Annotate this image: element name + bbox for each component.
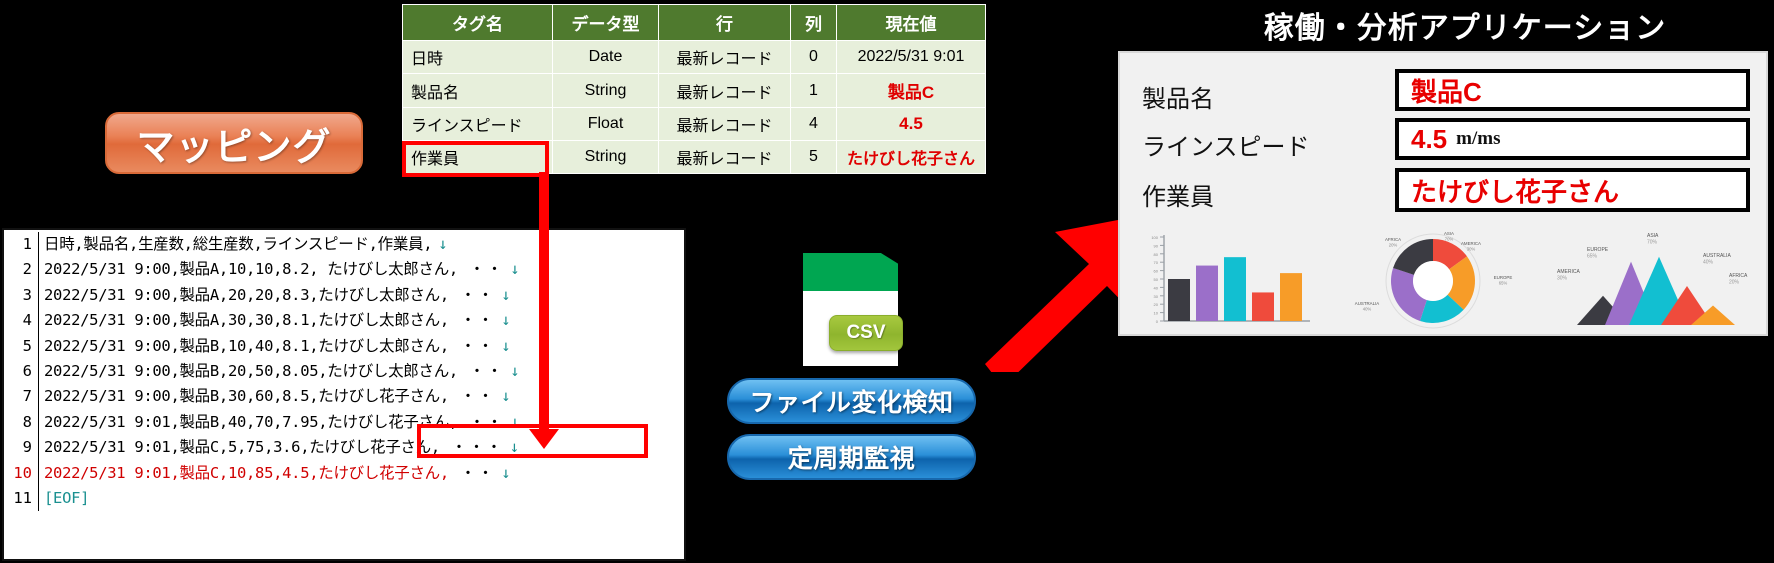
bar-chart-ticks: 0102030405060708090100 — [1151, 235, 1164, 324]
csv-line-number: 7 — [4, 384, 38, 409]
bar — [1280, 273, 1302, 321]
cell-tag: ラインスピード — [403, 108, 553, 141]
csv-line-text: 2022/5/31 9:01,製品C,10,85,4.5,たけびし花子さん, ・… — [44, 461, 510, 486]
csv-file-tag-label: CSV — [846, 322, 885, 344]
csv-line-number: 10 — [4, 461, 38, 486]
y-tick-label: 30 — [1154, 294, 1159, 299]
cell-type: String — [553, 141, 659, 174]
csv-line-number: 2 — [4, 257, 38, 282]
newline-arrow-icon: ↓ — [510, 413, 519, 431]
newline-arrow-icon: ↓ — [501, 286, 510, 304]
csv-line-text: 2022/5/31 9:00,製品B,10,40,8.1,たけびし太郎さん, ・… — [44, 334, 510, 359]
y-tick-label: 70 — [1154, 260, 1159, 265]
mountain-label: EUROPE — [1587, 247, 1609, 253]
cell-row: 最新レコード — [659, 74, 791, 108]
y-tick-label: 100 — [1151, 235, 1158, 240]
y-tick-label: 0 — [1156, 319, 1159, 324]
table-row: 日時 Date 最新レコード 0 2022/5/31 9:01 — [403, 41, 986, 74]
app-label-line-speed: ラインスピード — [1142, 127, 1310, 162]
csv-gutter-divider — [38, 410, 39, 435]
app-label-product: 製品名 — [1142, 79, 1214, 114]
donut-annotation: ASIA — [1444, 231, 1454, 236]
cell-tag: 製品名 — [403, 74, 553, 108]
csv-line-number: 3 — [4, 283, 38, 308]
cell-col: 4 — [791, 108, 837, 141]
csv-line-text: [EOF] — [44, 486, 95, 511]
cell-row: 最新レコード — [659, 108, 791, 141]
charts-area: 0102030405060708090100 AMERICA30%EUROPE6… — [1128, 225, 1764, 331]
table-row: 製品名 String 最新レコード 1 製品C — [403, 74, 986, 108]
table-row: ラインスピード Float 最新レコード 4 4.5 — [403, 108, 986, 141]
donut-annotation-value: 40% — [1363, 307, 1372, 312]
donut-chart: AMERICA30%EUROPE65%ASIA70%AUSTRALIA40%AF… — [1353, 227, 1513, 329]
csv-line: 1日時,製品名,生産数,総生産数,ラインスピード,作業員,↓ — [4, 232, 684, 257]
csv-line-text: 2022/5/31 9:00,製品B,20,50,8.05,たけびし太郎さん, … — [44, 359, 519, 384]
newline-arrow-icon: ↓ — [510, 438, 519, 456]
csv-line-text: 2022/5/31 9:01,製品C,5,75,3.6,たけびし花子さん, ・・… — [44, 435, 519, 460]
newline-arrow-icon: ↓ — [501, 387, 510, 405]
mapping-up-arrow-icon — [539, 172, 549, 431]
csv-line: 102022/5/31 9:01,製品C,10,85,4.5,たけびし花子さん,… — [4, 461, 684, 486]
csv-line-number: 5 — [4, 334, 38, 359]
mountain-label-value: 70% — [1647, 240, 1658, 246]
csv-line-list: 1日時,製品名,生産数,総生産数,ラインスピード,作業員,↓22022/5/31… — [4, 230, 684, 511]
donut-annotation-value: 20% — [1389, 243, 1398, 248]
mapping-table: タグ名 データ型 行 列 現在値 日時 Date 最新レコード 0 2022/5… — [402, 4, 985, 174]
th-current-value: 現在値 — [837, 5, 986, 41]
csv-ellipsis: ・・ — [458, 260, 504, 278]
table-header-row: タグ名 データ型 行 列 現在値 — [403, 5, 986, 41]
cell-type: Float — [553, 108, 659, 141]
csv-line: 92022/5/31 9:01,製品C,5,75,3.6,たけびし花子さん, ・… — [4, 435, 684, 460]
cell-row: 最新レコード — [659, 41, 791, 74]
analysis-application-window: 製品名 製品C ラインスピード 4.5 m/ms 作業員 たけびし花子さん 01 — [1118, 51, 1768, 336]
csv-gutter-divider — [38, 257, 39, 282]
csv-gutter-divider — [38, 461, 39, 486]
mountain-label: AUSTRALIA — [1703, 253, 1731, 259]
csv-ellipsis: ・・・ — [440, 438, 504, 456]
csv-line: 62022/5/31 9:00,製品B,20,50,8.05,たけびし太郎さん,… — [4, 359, 684, 384]
csv-gutter-divider — [38, 486, 39, 511]
csv-gutter-divider — [38, 384, 39, 409]
csv-ellipsis: ・・ — [449, 464, 495, 482]
table-row: 作業員 String 最新レコード 5 たけびし花子さん — [403, 141, 986, 174]
app-row-line-speed: ラインスピード — [1142, 127, 1310, 162]
csv-gutter-divider — [38, 334, 39, 359]
newline-arrow-icon: ↓ — [501, 464, 510, 482]
csv-line: 22022/5/31 9:00,製品A,10,10,8.2, たけびし太郎さん,… — [4, 257, 684, 282]
csv-file-icon: CSV — [803, 253, 898, 366]
bar — [1224, 257, 1246, 321]
csv-gutter-divider — [38, 232, 39, 257]
bar-chart-bars — [1168, 257, 1302, 321]
bar — [1196, 266, 1218, 321]
th-col: 列 — [791, 5, 837, 41]
csv-line-text: 2022/5/31 9:00,製品A,10,10,8.2, たけびし太郎さん, … — [44, 257, 519, 282]
csv-line-text: 2022/5/31 9:01,製品B,40,70,7.95,たけびし花子さん, … — [44, 410, 519, 435]
csv-gutter-divider — [38, 435, 39, 460]
app-value-product: 製品C — [1411, 72, 1482, 109]
csv-line: 42022/5/31 9:00,製品A,30,30,8.1,たけびし太郎さん, … — [4, 308, 684, 333]
bar — [1252, 292, 1274, 321]
donut-annotation-value: 30% — [1467, 247, 1476, 252]
cell-row: 最新レコード — [659, 141, 791, 174]
y-tick-label: 20 — [1154, 302, 1159, 307]
csv-line: 82022/5/31 9:01,製品B,40,70,7.95,たけびし花子さん,… — [4, 410, 684, 435]
cell-value: 2022/5/31 9:01 — [837, 41, 986, 74]
donut-annotation-value: 65% — [1499, 281, 1508, 286]
cell-tag: 日時 — [403, 41, 553, 74]
app-title: 稼働・分析アプリケーション — [1160, 3, 1770, 43]
diagram-canvas: マッピング タグ名 データ型 行 列 現在値 日時 Date 最新レ — [0, 0, 1774, 563]
periodic-monitoring-button[interactable]: 定周期監視 — [727, 434, 976, 480]
cell-value: 製品C — [837, 74, 986, 108]
app-field-product[interactable]: 製品C — [1395, 69, 1750, 111]
csv-line: 11[EOF] — [4, 486, 684, 511]
mountain-label: ASIA — [1647, 233, 1659, 239]
th-row: 行 — [659, 5, 791, 41]
donut-annotation: AUSTRALIA — [1355, 301, 1379, 306]
donut-annotation-value: 70% — [1445, 237, 1454, 242]
cell-value: 4.5 — [837, 108, 986, 141]
csv-gutter-divider — [38, 359, 39, 384]
periodic-monitoring-label: 定周期監視 — [788, 439, 916, 475]
y-tick-label: 50 — [1154, 277, 1159, 282]
mountain-label-value: 65% — [1587, 254, 1598, 260]
csv-line-number: 1 — [4, 232, 38, 257]
csv-gutter-divider — [38, 308, 39, 333]
mapping-badge: マッピング — [105, 112, 363, 174]
donut-annotation: AMERICA — [1461, 241, 1481, 246]
app-row-product: 製品名 — [1142, 79, 1214, 114]
csv-text-viewer: 1日時,製品名,生産数,総生産数,ラインスピード,作業員,↓22022/5/31… — [2, 228, 686, 561]
newline-arrow-icon: ↓ — [510, 362, 519, 380]
mountain-label-value: 20% — [1729, 280, 1740, 286]
donut-annotation: AFRICA — [1385, 237, 1401, 242]
newline-arrow-icon: ↓ — [438, 235, 447, 253]
csv-ellipsis: ・・ — [449, 311, 495, 329]
csv-line: 32022/5/31 9:00,製品A,20,20,8.3,たけびし太郎さん, … — [4, 283, 684, 308]
y-tick-label: 40 — [1154, 285, 1159, 290]
app-value-line-speed: 4.5 — [1411, 124, 1447, 155]
app-label-worker: 作業員 — [1142, 177, 1214, 212]
newline-arrow-icon: ↓ — [501, 311, 510, 329]
mountain-label-value: 30% — [1557, 276, 1568, 282]
csv-line-text: 2022/5/31 9:00,製品A,30,30,8.1,たけびし太郎さん, ・… — [44, 308, 510, 333]
csv-line-text: 2022/5/31 9:00,製品B,30,60,8.5,たけびし花子さん, ・… — [44, 384, 510, 409]
th-tag-name: タグ名 — [403, 5, 553, 41]
mountain-chart-peaks — [1577, 257, 1735, 325]
y-tick-label: 60 — [1154, 269, 1159, 274]
mapping-badge-label: マッピング — [136, 116, 331, 171]
csv-line-number: 6 — [4, 359, 38, 384]
csv-ellipsis: ・・ — [449, 286, 495, 304]
mountain-label: AMERICA — [1557, 269, 1580, 275]
csv-ellipsis: ・・ — [458, 413, 504, 431]
csv-ellipsis: ・・ — [449, 337, 495, 355]
mountain-label-value: 40% — [1703, 260, 1714, 266]
app-row-worker: 作業員 — [1142, 177, 1214, 212]
cell-col: 1 — [791, 74, 837, 108]
mountain-label: AFRICA — [1729, 273, 1748, 279]
file-change-detection-label: ファイル変化検知 — [749, 383, 953, 419]
app-unit-line-speed: m/ms — [1456, 128, 1500, 150]
csv-line-text: 日時,製品名,生産数,総生産数,ラインスピード,作業員,↓ — [44, 232, 447, 257]
bar — [1168, 279, 1190, 321]
csv-ellipsis: ・・ — [449, 387, 495, 405]
csv-line-number: 9 — [4, 435, 38, 460]
csv-line: 52022/5/31 9:00,製品B,10,40,8.1,たけびし太郎さん, … — [4, 334, 684, 359]
y-tick-label: 90 — [1154, 243, 1159, 248]
app-value-worker: たけびし花子さん — [1411, 172, 1619, 209]
file-change-detection-button[interactable]: ファイル変化検知 — [727, 378, 976, 424]
newline-arrow-icon: ↓ — [510, 260, 519, 278]
csv-line-text: 2022/5/31 9:00,製品A,20,20,8.3,たけびし太郎さん, ・… — [44, 283, 510, 308]
csv-line-number: 11 — [4, 486, 38, 511]
bar-chart: 0102030405060708090100 — [1138, 231, 1316, 329]
newline-arrow-icon: ↓ — [501, 337, 510, 355]
y-tick-label: 10 — [1154, 311, 1159, 316]
cell-type: String — [553, 74, 659, 108]
csv-file-fold — [803, 253, 898, 291]
donut-annotation: EUROPE — [1494, 275, 1513, 280]
csv-ellipsis: ・・ — [458, 362, 504, 380]
y-tick-label: 80 — [1154, 252, 1159, 257]
th-data-type: データ型 — [553, 5, 659, 41]
csv-line-number: 4 — [4, 308, 38, 333]
cell-col: 0 — [791, 41, 837, 74]
cell-type: Date — [553, 41, 659, 74]
mountain-chart: AMERICA30%EUROPE65%ASIA70%AUSTRALIA40%AF… — [1543, 225, 1758, 329]
cell-col: 5 — [791, 141, 837, 174]
app-field-line-speed[interactable]: 4.5 m/ms — [1395, 118, 1750, 160]
app-field-worker[interactable]: たけびし花子さん — [1395, 168, 1750, 212]
cell-tag: 作業員 — [403, 141, 553, 174]
cell-value: たけびし花子さん — [837, 141, 986, 174]
csv-line-number: 8 — [4, 410, 38, 435]
csv-file-tag: CSV — [829, 315, 903, 351]
csv-gutter-divider — [38, 283, 39, 308]
csv-line: 72022/5/31 9:00,製品B,30,60,8.5,たけびし花子さん, … — [4, 384, 684, 409]
